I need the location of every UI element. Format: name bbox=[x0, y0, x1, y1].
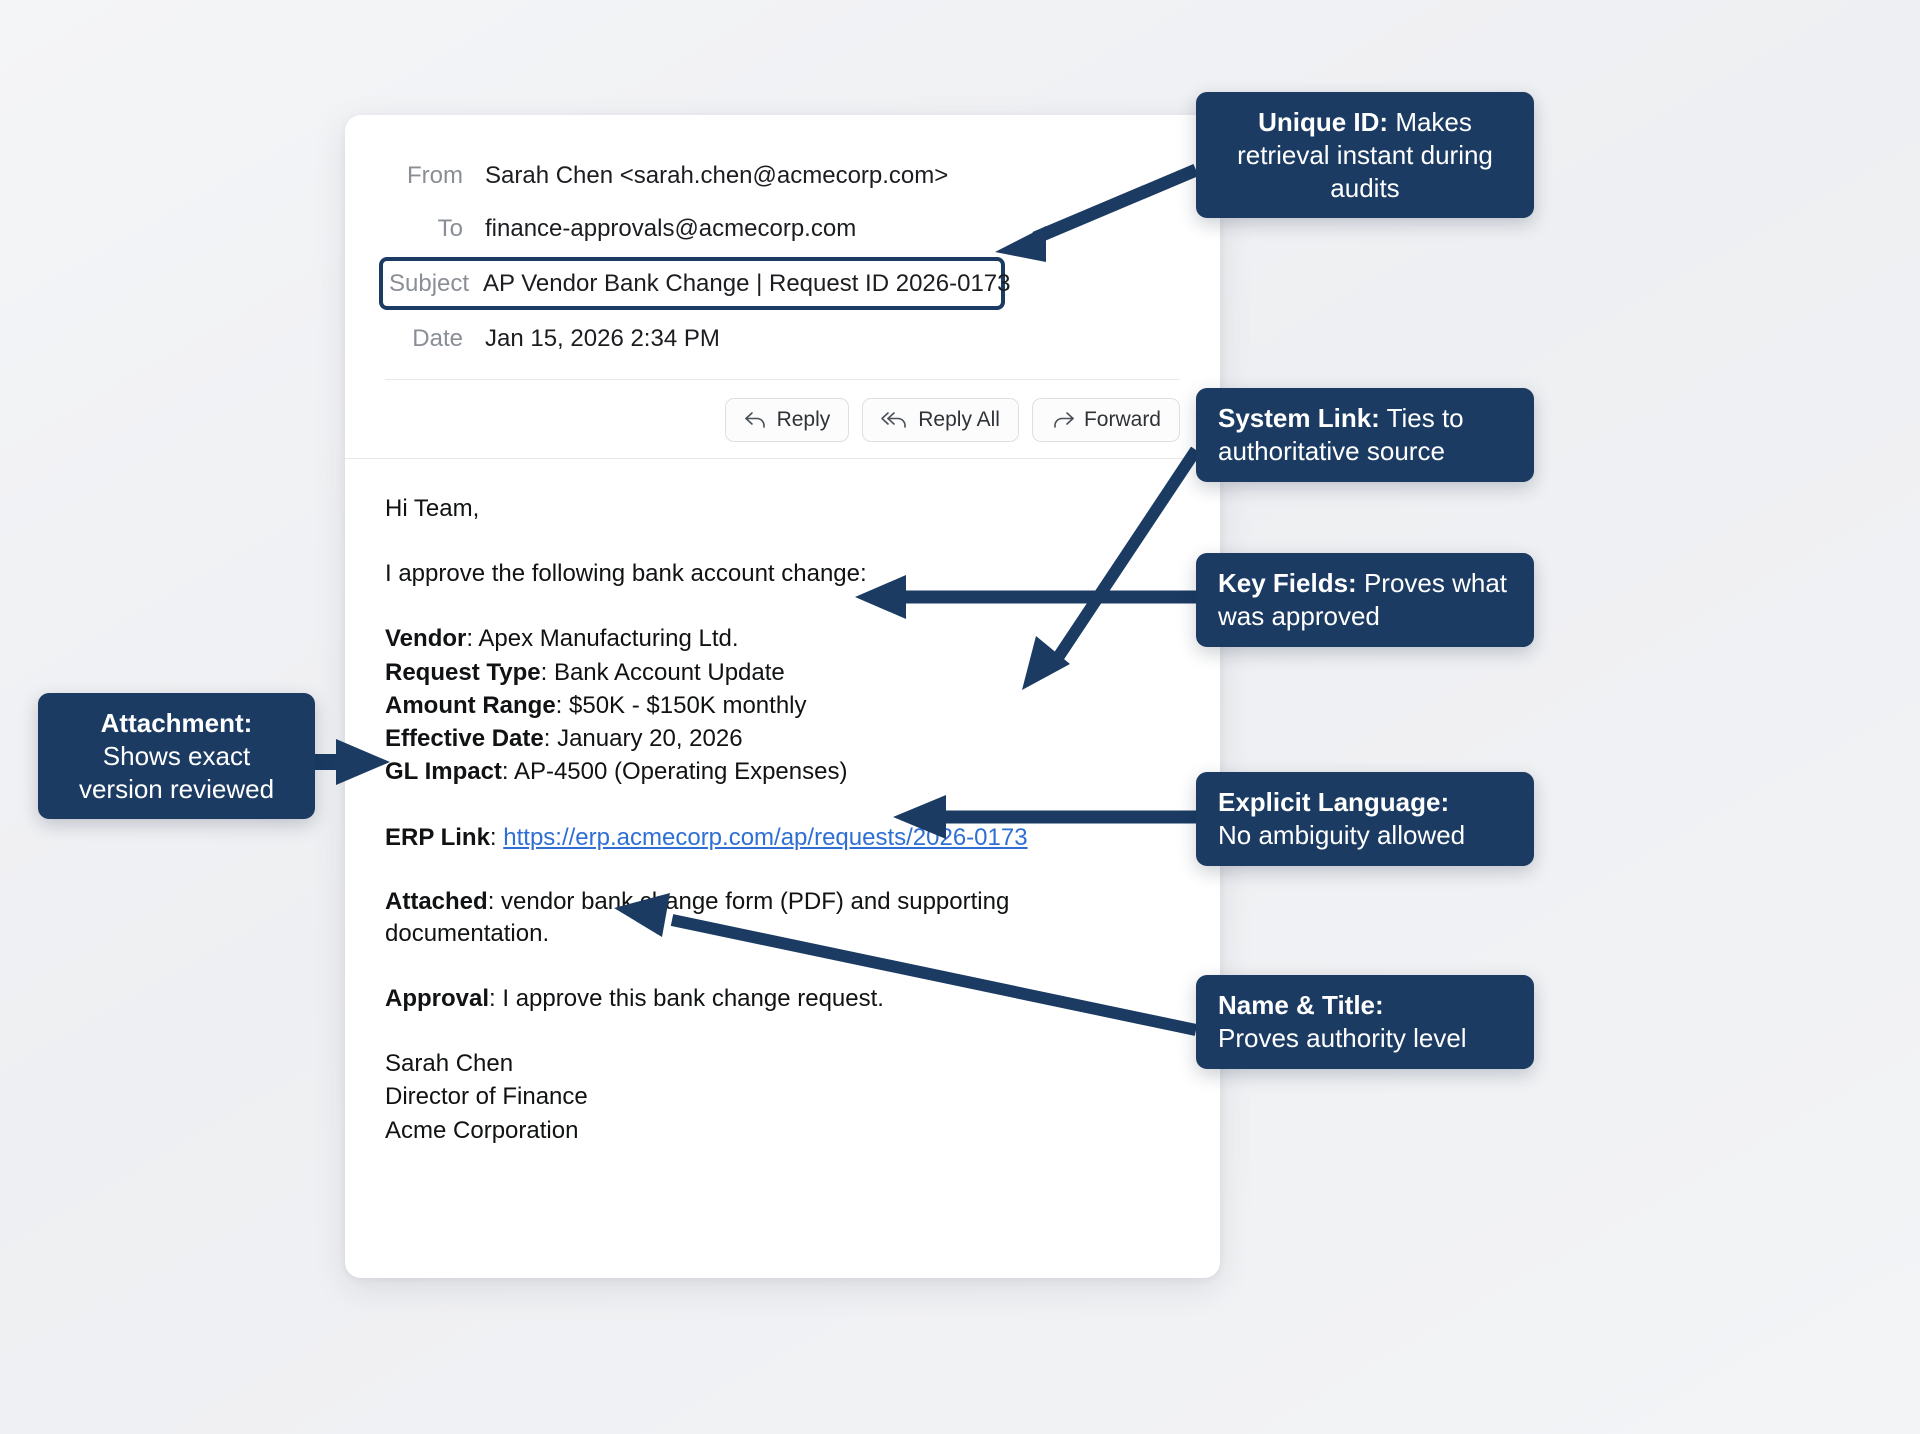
callout-name-title-title: Name & Title: bbox=[1218, 990, 1384, 1020]
callout-unique-id-title: Unique ID: bbox=[1258, 107, 1388, 137]
approval-value: I approve this bank change request. bbox=[502, 985, 884, 1012]
header-row-from: From Sarah Chen <sarah.chen@acmecorp.com… bbox=[385, 149, 1180, 202]
field-request-type-label: Request Type bbox=[385, 659, 541, 686]
callout-key-fields: Key Fields: Proves what was approved bbox=[1196, 553, 1534, 647]
forward-button[interactable]: Forward bbox=[1032, 398, 1180, 442]
email-body: Hi Team, I approve the following bank ac… bbox=[345, 459, 1220, 1147]
header-row-date: Date Jan 15, 2026 2:34 PM bbox=[385, 312, 1180, 365]
attached-line: Attached: vendor bank change form (PDF) … bbox=[385, 886, 1180, 949]
field-gl-impact-value: AP-4500 (Operating Expenses) bbox=[514, 758, 848, 785]
date-label: Date bbox=[385, 325, 485, 353]
email-header: From Sarah Chen <sarah.chen@acmecorp.com… bbox=[345, 115, 1220, 380]
intro-text: I approve the following bank account cha… bbox=[385, 558, 1180, 590]
callout-explicit-language: Explicit Language: No ambiguity allowed bbox=[1196, 772, 1534, 866]
greeting-text: Hi Team, bbox=[385, 493, 1180, 525]
callout-explicit-language-title: Explicit Language: bbox=[1218, 787, 1449, 817]
subject-label: Subject bbox=[389, 270, 483, 298]
reply-button[interactable]: Reply bbox=[725, 398, 850, 442]
erp-link-url[interactable]: https://erp.acmecorp.com/ap/requests/202… bbox=[503, 824, 1027, 851]
field-vendor-value: Apex Manufacturing Ltd. bbox=[478, 625, 738, 652]
field-vendor-label: Vendor bbox=[385, 625, 466, 652]
field-amount-range-label: Amount Range bbox=[385, 692, 556, 719]
signature-name: Sarah Chen bbox=[385, 1047, 1180, 1080]
email-toolbar: Reply Reply All bbox=[345, 380, 1220, 458]
callout-attachment-title: Attachment: bbox=[101, 708, 253, 738]
approval-label: Approval bbox=[385, 985, 489, 1012]
approval-line: Approval: I approve this bank change req… bbox=[385, 983, 1180, 1015]
header-row-to: To finance-approvals@acmecorp.com bbox=[385, 202, 1180, 255]
forward-icon bbox=[1051, 410, 1075, 430]
field-vendor: Vendor: Apex Manufacturing Ltd. bbox=[385, 622, 1180, 655]
erp-link-label: ERP Link bbox=[385, 824, 490, 851]
signature-company: Acme Corporation bbox=[385, 1114, 1180, 1147]
callout-attachment-text: Shows exact version reviewed bbox=[79, 741, 274, 804]
signature-block: Sarah Chen Director of Finance Acme Corp… bbox=[385, 1047, 1180, 1147]
callout-explicit-language-text: No ambiguity allowed bbox=[1218, 820, 1465, 850]
field-gl-impact-label: GL Impact bbox=[385, 758, 502, 785]
reply-icon bbox=[744, 410, 768, 430]
callout-name-title-text: Proves authority level bbox=[1218, 1023, 1467, 1053]
page-root: From Sarah Chen <sarah.chen@acmecorp.com… bbox=[0, 0, 1920, 1434]
date-value: Jan 15, 2026 2:34 PM bbox=[485, 325, 720, 353]
attached-label: Attached bbox=[385, 888, 488, 915]
reply-label: Reply bbox=[777, 408, 831, 432]
from-value: Sarah Chen <sarah.chen@acmecorp.com> bbox=[485, 162, 948, 190]
reply-all-button[interactable]: Reply All bbox=[862, 398, 1019, 442]
field-amount-range: Amount Range: $50K - $150K monthly bbox=[385, 689, 1180, 722]
field-request-type-value: Bank Account Update bbox=[554, 659, 785, 686]
email-card: From Sarah Chen <sarah.chen@acmecorp.com… bbox=[345, 115, 1220, 1278]
to-label: To bbox=[385, 215, 485, 243]
subject-value: AP Vendor Bank Change | Request ID 2026-… bbox=[483, 270, 1011, 298]
reply-all-label: Reply All bbox=[918, 408, 1000, 432]
subject-highlight-box: Subject AP Vendor Bank Change | Request … bbox=[379, 257, 1005, 310]
callout-attachment: Attachment: Shows exact version reviewed bbox=[38, 693, 315, 819]
callout-unique-id: Unique ID: Makes retrieval instant durin… bbox=[1196, 92, 1534, 218]
signature-title: Director of Finance bbox=[385, 1080, 1180, 1113]
field-request-type: Request Type: Bank Account Update bbox=[385, 656, 1180, 689]
field-gl-impact: GL Impact: AP-4500 (Operating Expenses) bbox=[385, 755, 1180, 788]
to-value: finance-approvals@acmecorp.com bbox=[485, 215, 856, 243]
erp-link-line: ERP Link: https://erp.acmecorp.com/ap/re… bbox=[385, 822, 1180, 854]
callout-system-link: System Link: Ties to authoritative sourc… bbox=[1196, 388, 1534, 482]
field-amount-range-value: $50K - $150K monthly bbox=[569, 692, 806, 719]
forward-label: Forward bbox=[1084, 408, 1161, 432]
callout-system-link-title: System Link: bbox=[1218, 403, 1380, 433]
field-effective-date-value: January 20, 2026 bbox=[557, 725, 742, 752]
callout-name-title: Name & Title: Proves authority level bbox=[1196, 975, 1534, 1069]
from-label: From bbox=[385, 162, 485, 190]
callout-key-fields-title: Key Fields: bbox=[1218, 568, 1357, 598]
key-fields-block: Vendor: Apex Manufacturing Ltd. Request … bbox=[385, 622, 1180, 788]
reply-all-icon bbox=[881, 410, 909, 430]
field-effective-date: Effective Date: January 20, 2026 bbox=[385, 722, 1180, 755]
field-effective-date-label: Effective Date bbox=[385, 725, 544, 752]
